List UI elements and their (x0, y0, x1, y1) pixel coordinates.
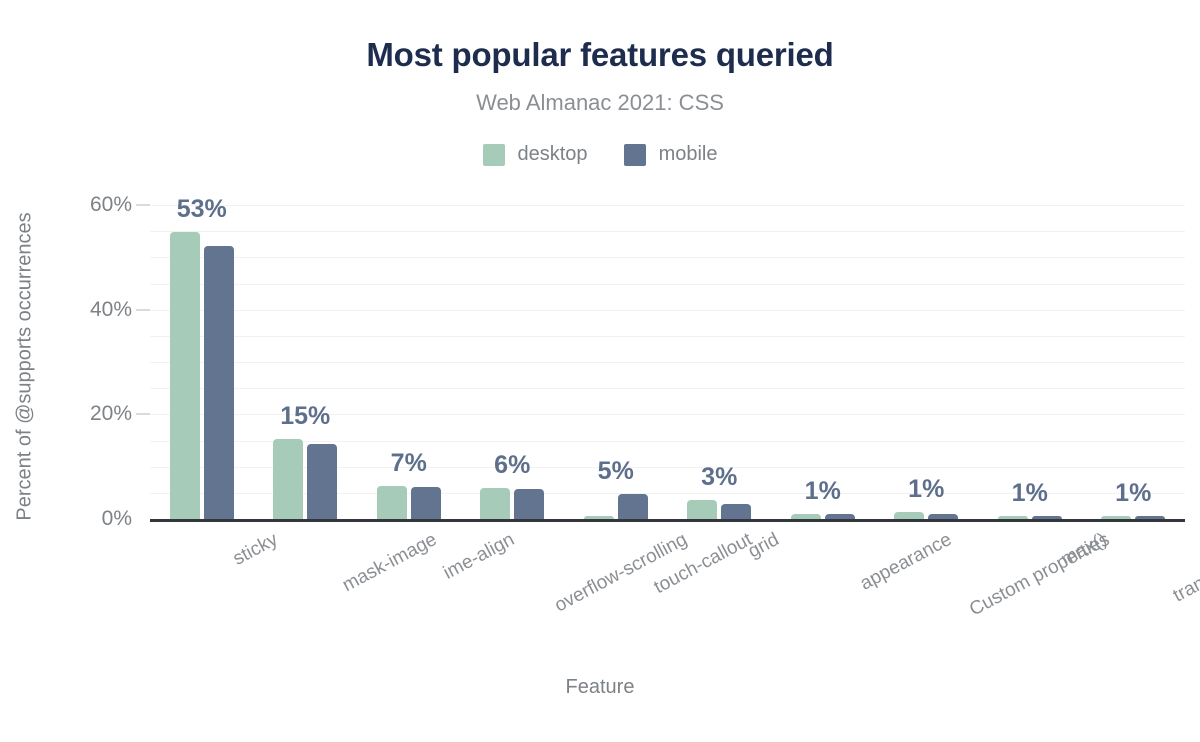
bar-value-label: 5% (564, 457, 668, 486)
bar-value-label: 1% (771, 477, 875, 506)
bar-value-label: 1% (875, 475, 979, 504)
bar-group: 5% (564, 205, 668, 519)
x-axis-labels: stickymask-imageime-alignoverflow-scroll… (150, 519, 1185, 679)
x-axis-title: Feature (0, 676, 1200, 699)
bar-value-label: 1% (1082, 479, 1186, 508)
bar-group: 15% (254, 205, 358, 519)
chart-title: Most popular features queried (0, 36, 1200, 74)
bar-mobile[interactable] (721, 504, 751, 519)
legend-label-desktop: desktop (518, 143, 588, 166)
legend-item-mobile[interactable]: mobile (624, 143, 718, 166)
bar-desktop[interactable] (894, 512, 924, 519)
x-axis-tick-label: appearance (856, 529, 955, 596)
plot-area: 53%15%7%6%5%3%1%1%1%1% (150, 205, 1185, 519)
y-axis-tick-mark (136, 309, 150, 311)
bar-desktop[interactable] (687, 500, 717, 519)
chart-container: Most popular features queried Web Almana… (0, 0, 1200, 742)
bar-value-label: 3% (668, 463, 772, 492)
x-axis-tick-label: transform-style (1170, 529, 1200, 607)
x-axis-tick-label: max() (1057, 529, 1110, 571)
bar-mobile[interactable] (411, 487, 441, 519)
chart-legend: desktop mobile (0, 143, 1200, 166)
bar-value-label: 7% (357, 449, 461, 478)
bar-desktop[interactable] (273, 439, 303, 519)
y-axis-tick-label: 20% (22, 402, 132, 426)
x-axis-tick-label: grid (745, 529, 783, 563)
bar-desktop[interactable] (480, 488, 510, 519)
bar-value-label: 53% (150, 195, 254, 224)
legend-label-mobile: mobile (659, 143, 718, 166)
bar-desktop[interactable] (377, 486, 407, 519)
y-axis-title: Percent of @supports occurrences (14, 87, 37, 647)
bar-groups: 53%15%7%6%5%3%1%1%1%1% (150, 205, 1185, 519)
y-axis-tick-label: 60% (22, 193, 132, 217)
x-axis-tick-label: mask-image (339, 529, 441, 597)
legend-swatch-mobile (624, 144, 646, 166)
bar-group: 3% (668, 205, 772, 519)
bar-group: 1% (1082, 205, 1186, 519)
bar-mobile[interactable] (514, 489, 544, 519)
bar-group: 1% (771, 205, 875, 519)
bar-mobile[interactable] (618, 494, 648, 519)
y-axis-tick-mark (136, 204, 150, 206)
y-axis-tick-label: 0% (22, 507, 132, 531)
bar-mobile[interactable] (307, 444, 337, 519)
x-axis-tick-label: sticky (229, 529, 281, 571)
bar-value-label: 15% (254, 402, 358, 431)
chart-subtitle: Web Almanac 2021: CSS (0, 90, 1200, 116)
bar-value-label: 6% (461, 451, 565, 480)
bar-group: 53% (150, 205, 254, 519)
bar-group: 7% (357, 205, 461, 519)
bar-mobile[interactable] (204, 246, 234, 519)
legend-item-desktop[interactable]: desktop (483, 143, 588, 166)
bar-group: 6% (461, 205, 565, 519)
bar-desktop[interactable] (170, 232, 200, 519)
legend-swatch-desktop (483, 144, 505, 166)
bar-group: 1% (978, 205, 1082, 519)
x-axis-tick-label: ime-align (440, 529, 518, 585)
y-axis-tick-label: 40% (22, 298, 132, 322)
bar-group: 1% (875, 205, 979, 519)
y-axis-tick-mark (136, 413, 150, 415)
bar-value-label: 1% (978, 479, 1082, 508)
